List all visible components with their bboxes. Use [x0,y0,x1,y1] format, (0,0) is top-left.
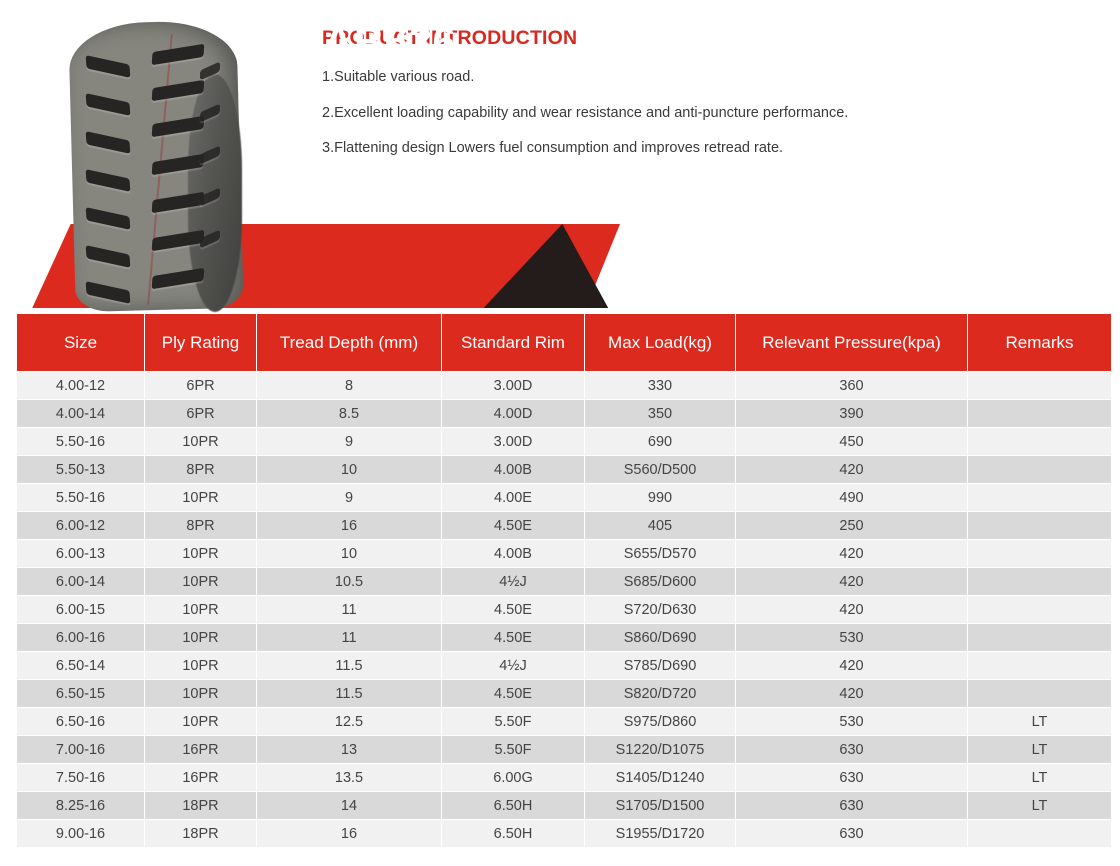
cell-remarks [968,428,1111,455]
cell-remarks: LT [968,792,1111,819]
cell-tread-depth: 11 [257,624,441,651]
table-body: 4.00-126PR83.00D3303604.00-146PR8.54.00D… [17,372,1111,847]
cell-max-load: S685/D600 [585,568,735,595]
table-row: 6.00-1610PR114.50ES860/D690530 [17,624,1111,651]
cell-max-load: S1405/D1240 [585,764,735,791]
cell-size: 4.00-14 [17,400,144,427]
cell-size: 8.25-16 [17,792,144,819]
cell-tread-depth: 8.5 [257,400,441,427]
cell-size: 6.00-12 [17,512,144,539]
cell-tread-depth: 16 [257,512,441,539]
cell-standard-rim: 6.50H [442,792,584,819]
cell-standard-rim: 4.00B [442,540,584,567]
cell-size: 6.00-15 [17,596,144,623]
cell-standard-rim: 4.50E [442,680,584,707]
table-row: 4.00-126PR83.00D330360 [17,372,1111,399]
cell-size: 5.50-16 [17,484,144,511]
cell-size: 7.00-16 [17,736,144,763]
cell-standard-rim: 4.50E [442,512,584,539]
cell-size: 6.00-13 [17,540,144,567]
table-row: 5.50-138PR104.00BS560/D500420 [17,456,1111,483]
cell-relevant-pressure: 420 [736,568,967,595]
table-row: 8.25-1618PR146.50HS1705/D1500630LT [17,792,1111,819]
table-row: 4.00-146PR8.54.00D350390 [17,400,1111,427]
intro-line-1: 1.Suitable various road. [322,68,1022,86]
cell-tread-depth: 11.5 [257,680,441,707]
cell-max-load: S820/D720 [585,680,735,707]
cell-max-load: S655/D570 [585,540,735,567]
cell-standard-rim: 4½J [442,652,584,679]
cell-max-load: S785/D690 [585,652,735,679]
cell-remarks [968,484,1111,511]
cell-max-load: 690 [585,428,735,455]
cell-size: 4.00-12 [17,372,144,399]
column-header-tread-depth: Tread Depth (mm) [257,314,441,371]
cell-relevant-pressure: 390 [736,400,967,427]
table-header-row: Size Ply Rating Tread Depth (mm) Standar… [17,314,1111,371]
cell-max-load: S720/D630 [585,596,735,623]
cell-ply-rating: 16PR [145,764,256,791]
table-row: 6.00-128PR164.50E405250 [17,512,1111,539]
cell-remarks [968,652,1111,679]
cell-relevant-pressure: 450 [736,428,967,455]
cell-size: 5.50-13 [17,456,144,483]
intro-line-3: 3.Flattening design Lowers fuel consumpt… [322,139,1022,157]
table-row: 6.00-1410PR10.54½JS685/D600420 [17,568,1111,595]
cell-tread-depth: 11.5 [257,652,441,679]
cell-standard-rim: 3.00D [442,428,584,455]
cell-size: 7.50-16 [17,764,144,791]
cell-ply-rating: 18PR [145,792,256,819]
table-row: 5.50-1610PR94.00E990490 [17,484,1111,511]
cell-remarks [968,680,1111,707]
cell-max-load: 405 [585,512,735,539]
cell-ply-rating: 10PR [145,568,256,595]
cell-tread-depth: 16 [257,820,441,847]
cell-ply-rating: 10PR [145,652,256,679]
cell-standard-rim: 4.50E [442,624,584,651]
cell-remarks [968,624,1111,651]
cell-remarks [968,596,1111,623]
table-row: 6.50-1610PR12.55.50FS975/D860530LT [17,708,1111,735]
table-row: 6.50-1410PR11.54½JS785/D690420 [17,652,1111,679]
cell-remarks [968,456,1111,483]
cell-ply-rating: 16PR [145,736,256,763]
cell-relevant-pressure: 250 [736,512,967,539]
cell-standard-rim: 4.00D [442,400,584,427]
cell-standard-rim: 4½J [442,568,584,595]
cell-tread-depth: 14 [257,792,441,819]
cell-relevant-pressure: 630 [736,792,967,819]
column-header-max-load: Max Load(kg) [585,314,735,371]
cell-standard-rim: 3.00D [442,372,584,399]
cell-tread-depth: 10 [257,456,441,483]
cell-relevant-pressure: 530 [736,708,967,735]
cell-relevant-pressure: 530 [736,624,967,651]
cell-ply-rating: 10PR [145,680,256,707]
cell-remarks [968,568,1111,595]
cell-ply-rating: 8PR [145,456,256,483]
cell-standard-rim: 5.50F [442,708,584,735]
cell-tread-depth: 9 [257,428,441,455]
cell-standard-rim: 4.00E [442,484,584,511]
cell-size: 5.50-16 [17,428,144,455]
cell-remarks [968,820,1111,847]
cell-tread-depth: 10 [257,540,441,567]
cell-tread-depth: 13 [257,736,441,763]
cell-max-load: S860/D690 [585,624,735,651]
cell-relevant-pressure: 630 [736,764,967,791]
column-header-standard-rim: Standard Rim [442,314,584,371]
table-row: 6.00-1510PR114.50ES720/D630420 [17,596,1111,623]
cell-max-load: 350 [585,400,735,427]
column-header-ply-rating: Ply Rating [145,314,256,371]
cell-relevant-pressure: 490 [736,484,967,511]
cell-max-load: S975/D860 [585,708,735,735]
cell-remarks: LT [968,736,1111,763]
cell-standard-rim: 6.50H [442,820,584,847]
cell-tread-depth: 9 [257,484,441,511]
cell-ply-rating: 10PR [145,540,256,567]
cell-size: 6.50-16 [17,708,144,735]
cell-standard-rim: 6.00G [442,764,584,791]
cell-standard-rim: 4.50E [442,596,584,623]
product-tire-image [72,22,240,310]
cell-size: 6.00-14 [17,568,144,595]
table-row: 6.50-1510PR11.54.50ES820/D720420 [17,680,1111,707]
cell-relevant-pressure: 630 [736,736,967,763]
cell-remarks [968,512,1111,539]
cell-tread-depth: 10.5 [257,568,441,595]
cell-standard-rim: 5.50F [442,736,584,763]
table-row: 5.50-1610PR93.00D690450 [17,428,1111,455]
cell-tread-depth: 13.5 [257,764,441,791]
cell-relevant-pressure: 420 [736,652,967,679]
cell-max-load: S1705/D1500 [585,792,735,819]
cell-tread-depth: 12.5 [257,708,441,735]
cell-relevant-pressure: 420 [736,596,967,623]
cell-ply-rating: 10PR [145,428,256,455]
cell-ply-rating: 10PR [145,708,256,735]
cell-remarks [968,372,1111,399]
table-header: Size Ply Rating Tread Depth (mm) Standar… [17,314,1111,371]
column-header-size: Size [17,314,144,371]
cell-size: 6.50-15 [17,680,144,707]
cell-size: 6.50-14 [17,652,144,679]
cell-relevant-pressure: 420 [736,540,967,567]
cell-relevant-pressure: 420 [736,680,967,707]
cell-relevant-pressure: 630 [736,820,967,847]
cell-size: 6.00-16 [17,624,144,651]
cell-max-load: S560/D500 [585,456,735,483]
cell-standard-rim: 4.00B [442,456,584,483]
cell-ply-rating: 10PR [145,484,256,511]
cell-remarks: LT [968,764,1111,791]
cell-relevant-pressure: 360 [736,372,967,399]
cell-remarks: LT [968,708,1111,735]
cell-ply-rating: 8PR [145,512,256,539]
cell-remarks [968,400,1111,427]
cell-relevant-pressure: 420 [736,456,967,483]
cell-ply-rating: 10PR [145,624,256,651]
cell-size: 9.00-16 [17,820,144,847]
cell-ply-rating: 10PR [145,596,256,623]
table-row: 9.00-1618PR166.50HS1955/D1720630 [17,820,1111,847]
table-row: 7.00-1616PR135.50FS1220/D1075630LT [17,736,1111,763]
cell-tread-depth: 11 [257,596,441,623]
column-header-remarks: Remarks [968,314,1111,371]
cell-tread-depth: 8 [257,372,441,399]
specification-table: Size Ply Rating Tread Depth (mm) Standar… [16,313,1112,848]
cell-max-load: 990 [585,484,735,511]
cell-remarks [968,540,1111,567]
table-row: 6.00-1310PR104.00BS655/D570420 [17,540,1111,567]
table-row: 7.50-1616PR13.56.00GS1405/D1240630LT [17,764,1111,791]
cell-max-load: S1220/D1075 [585,736,735,763]
model-name-label: AB636 [323,16,456,68]
cell-ply-rating: 6PR [145,372,256,399]
cell-max-load: S1955/D1720 [585,820,735,847]
cell-max-load: 330 [585,372,735,399]
cell-ply-rating: 6PR [145,400,256,427]
cell-ply-rating: 18PR [145,820,256,847]
column-header-relevant-pressure: Relevant Pressure(kpa) [736,314,967,371]
intro-line-2: 2.Excellent loading capability and wear … [322,104,1022,122]
